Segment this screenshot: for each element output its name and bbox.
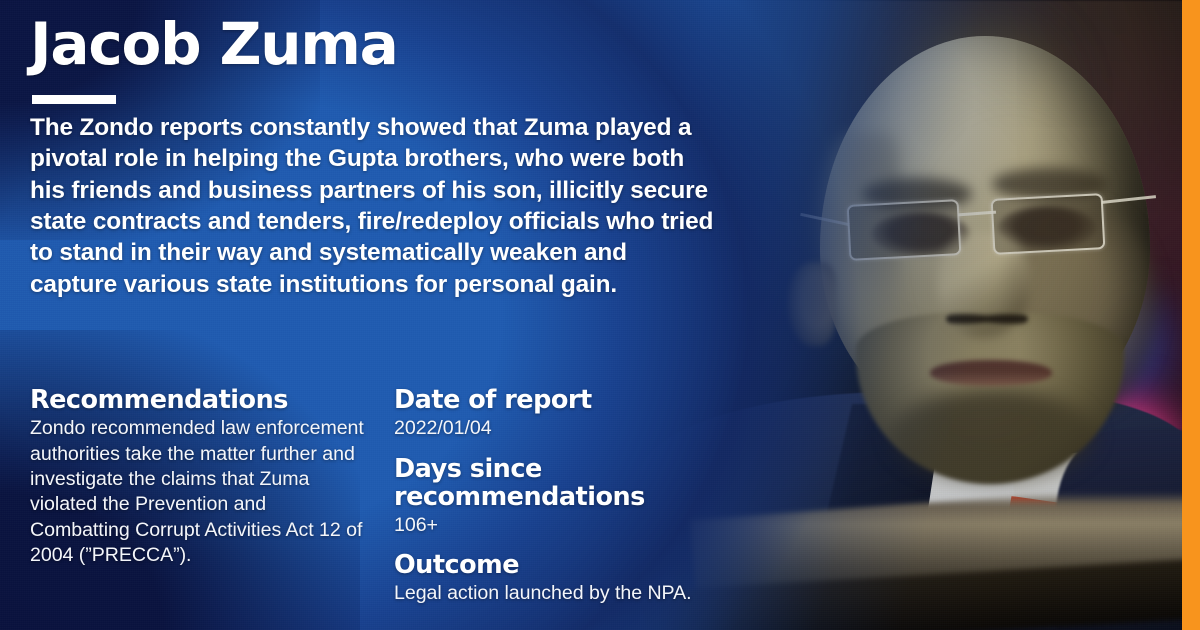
title-underline-rule	[32, 95, 116, 104]
days-since-block: Days since recommendations 106+	[394, 455, 764, 539]
text-content: Jacob Zuma The Zondo reports constantly …	[0, 0, 1200, 630]
outcome-block: Outcome Legal action launched by the NPA…	[394, 551, 764, 607]
date-of-report-heading: Date of report	[394, 386, 764, 414]
recommendations-column: Recommendations Zondo recommended law en…	[30, 386, 366, 569]
recommendations-heading: Recommendations	[30, 386, 366, 414]
summary-paragraph: The Zondo reports constantly showed that…	[30, 112, 720, 300]
days-since-value: 106+	[394, 513, 764, 538]
date-of-report-value: 2022/01/04	[394, 416, 764, 441]
days-since-heading: Days since recommendations	[394, 455, 764, 511]
recommendations-body: Zondo recommended law enforcement author…	[30, 416, 366, 569]
date-of-report-block: Date of report 2022/01/04	[394, 386, 764, 442]
page-title: Jacob Zuma	[30, 14, 398, 74]
spacer-1	[394, 442, 764, 455]
outcome-value: Legal action launched by the NPA.	[394, 581, 764, 606]
infographic-canvas: Jacob Zuma The Zondo reports constantly …	[0, 0, 1200, 630]
details-column: Date of report 2022/01/04 Days since rec…	[394, 386, 764, 607]
outcome-heading: Outcome	[394, 551, 764, 579]
recommendations-block: Recommendations Zondo recommended law en…	[30, 386, 366, 569]
